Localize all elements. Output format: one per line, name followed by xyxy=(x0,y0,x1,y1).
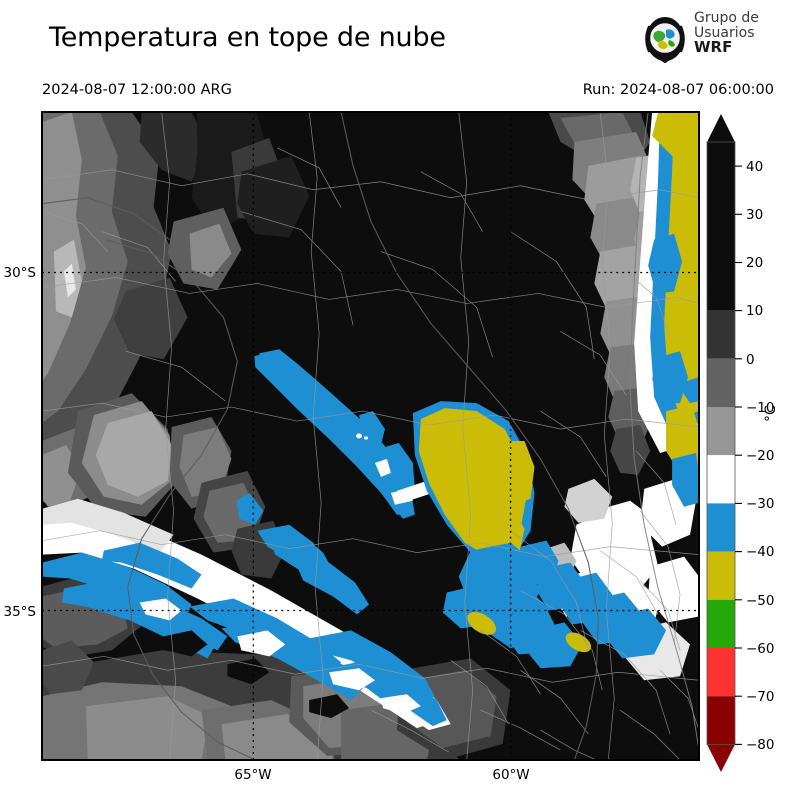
colorbar-unit-label: °C xyxy=(763,405,779,422)
colorbar-band-0-10 xyxy=(707,311,735,359)
valid-time-label: 2024-08-07 12:00:00 ARG xyxy=(42,82,232,98)
cb-tick-m80: −80 xyxy=(746,737,775,753)
colorbar-band-m60-m50 xyxy=(707,600,735,648)
colorbar-band-m70-m60 xyxy=(707,648,735,696)
run-time-label: Run: 2024-08-07 06:00:00 xyxy=(583,82,774,98)
colorbar-ticks xyxy=(735,166,742,744)
cb-tick-0: 0 xyxy=(746,352,755,368)
colorbar-band-m50-m40 xyxy=(707,552,735,600)
colorbar-tick-labels: 40 30 20 10 0 −10 −20 −30 −40 −50 −60 −7… xyxy=(746,159,775,753)
lon-label-60w: 60°W xyxy=(476,767,546,783)
colorbar-band-10-45 xyxy=(707,142,735,311)
colorbar-over-arrow xyxy=(707,114,735,142)
cb-tick-m40: −40 xyxy=(746,544,775,560)
page-title: Temperatura en tope de nube xyxy=(49,22,446,53)
cb-tick-m30: −30 xyxy=(746,496,775,512)
logo-text: Grupo de Usuarios WRF xyxy=(694,11,759,56)
cb-tick-m20: −20 xyxy=(746,448,775,464)
logo-line-1: Grupo de xyxy=(694,11,759,26)
logo: Grupo de Usuarios WRF xyxy=(640,13,790,65)
colorbar[interactable]: 40 30 20 10 0 −10 −20 −30 −40 −50 −60 −7… xyxy=(705,112,795,772)
colorbar-band-m30-m20 xyxy=(707,455,735,503)
cb-tick-m50: −50 xyxy=(746,593,775,609)
cb-tick-10: 10 xyxy=(746,303,763,319)
colorbar-band-m20-m10 xyxy=(707,407,735,455)
cb-tick-30: 30 xyxy=(746,207,763,223)
colorbar-svg[interactable]: 40 30 20 10 0 −10 −20 −30 −40 −50 −60 −7… xyxy=(705,112,795,772)
globe-emblem-icon xyxy=(640,13,690,63)
cb-tick-m60: −60 xyxy=(746,641,775,657)
lat-label-30s: 30°S xyxy=(0,265,36,281)
cb-tick-20: 20 xyxy=(746,255,763,271)
lat-label-35s: 35°S xyxy=(0,604,36,620)
logo-line-3: WRF xyxy=(694,40,759,56)
colorbar-under-arrow xyxy=(707,744,735,772)
lon-label-65w: 65°W xyxy=(218,767,288,783)
colorbar-band-m80-m70 xyxy=(707,696,735,744)
colorbar-band-m10-0 xyxy=(707,359,735,407)
cb-tick-m70: −70 xyxy=(746,689,775,705)
cloud-top-temperature-map[interactable] xyxy=(42,112,699,760)
cb-tick-40: 40 xyxy=(746,159,763,175)
map-frame[interactable] xyxy=(41,111,700,761)
colorbar-band-m40-m30 xyxy=(707,503,735,551)
